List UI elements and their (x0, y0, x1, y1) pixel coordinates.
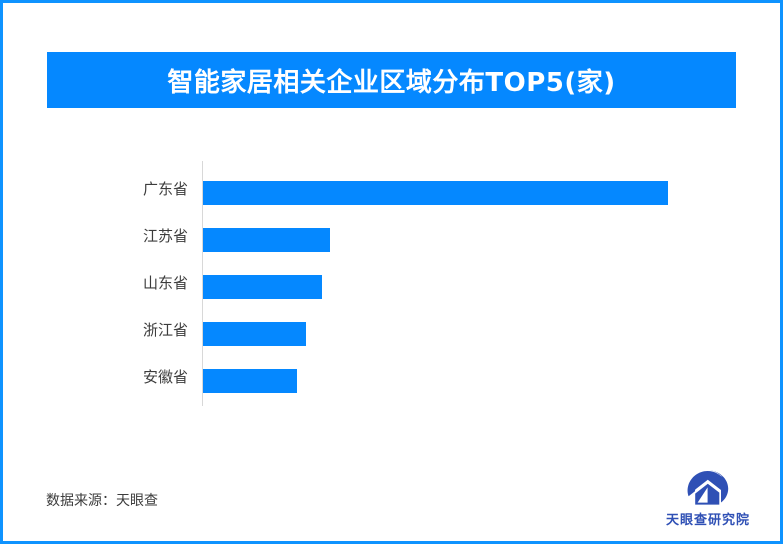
data-source-note: 数据来源：天眼查 (46, 490, 158, 510)
bar (203, 228, 330, 252)
page-title: 智能家居相关企业区域分布TOP5(家) (167, 62, 615, 99)
bar (203, 181, 668, 205)
bar-category-label: 江苏省 (63, 224, 188, 248)
bar-category-label: 安徽省 (63, 365, 188, 389)
chart-card: 智能家居相关企业区域分布TOP5(家) 广东省江苏省山东省浙江省安徽省 数据来源… (0, 0, 783, 544)
bar (203, 322, 306, 346)
bar-category-label: 山东省 (63, 271, 188, 295)
bar-category-label: 浙江省 (63, 318, 188, 342)
bar-series: 广东省江苏省山东省浙江省安徽省 (3, 153, 783, 418)
bar-row: 江苏省 (3, 228, 783, 252)
bar-row: 山东省 (3, 275, 783, 299)
bar-row: 广东省 (3, 181, 783, 205)
bar (203, 369, 297, 393)
bar-row: 浙江省 (3, 322, 783, 346)
chart-title-banner: 智能家居相关企业区域分布TOP5(家) (47, 52, 736, 108)
tianyancha-eye-arch-icon (686, 469, 730, 507)
bar-row: 安徽省 (3, 369, 783, 393)
brand-logo: 天眼查研究院 (658, 469, 758, 529)
bar (203, 275, 322, 299)
bar-chart: 广东省江苏省山东省浙江省安徽省 (3, 153, 783, 418)
bar-category-label: 广东省 (63, 177, 188, 201)
brand-logo-label: 天眼查研究院 (666, 509, 750, 528)
